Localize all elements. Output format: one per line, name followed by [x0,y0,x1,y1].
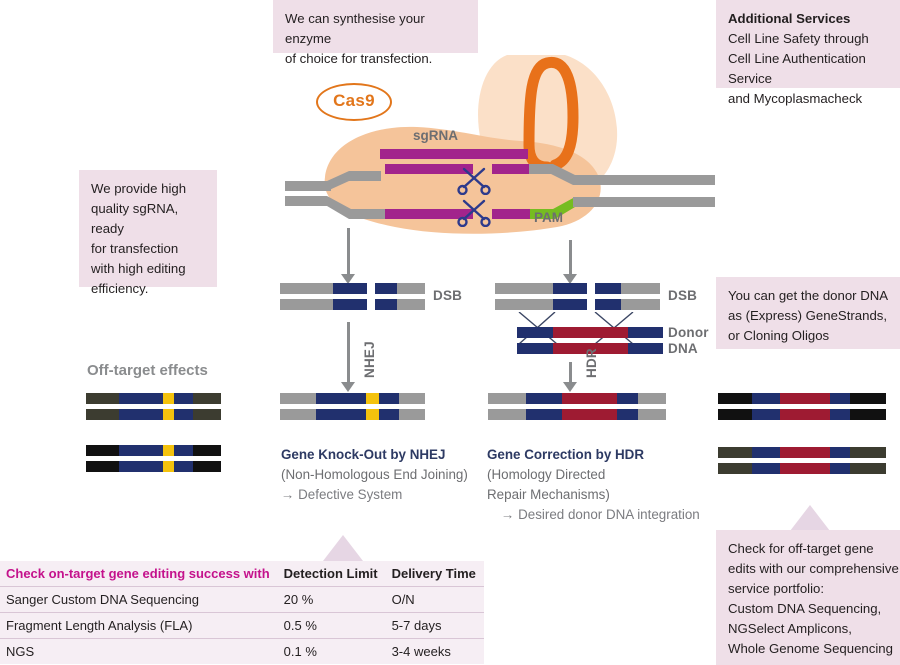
hdr-top-navy-b [617,393,638,404]
table-callout-pointer [323,535,363,561]
dsb-right-top-navy-b [595,283,621,294]
callout-donor-line-1: You can get the donor DNA [728,288,888,303]
genomic-dna-top-in [285,181,331,191]
hdr-top-navy-a [526,393,562,404]
dsb-left-bot-navy-b [375,299,397,310]
offtarget-duplex-2 [86,445,221,473]
nhej-bot-navy-a [316,409,366,420]
hdr-bot-navy-a [526,409,562,420]
sgrna-strand-mid-right [492,164,529,174]
callout-donor-dna: You can get the donor DNA as (Express) G… [716,277,900,349]
table-cell-method: Fragment Length Analysis (FLA) [0,613,278,639]
table-cell-method: NGS [0,639,278,665]
otr2-bot-red [780,463,830,474]
result-hdr-outcome: → Desired donor DNA integration [487,505,717,525]
nhej-label: NHEJ [362,341,377,378]
scissors-icon-upper [457,165,491,195]
ot2-top-black-a [86,445,119,456]
table-cell-detection-limit: 20 % [278,587,386,613]
target-strand-right [492,209,530,219]
callout-sgrna-line-2: quality sgRNA, ready [91,201,178,236]
dsb-right-bot-gray-b [621,299,660,310]
otr2-top-navy-b [830,447,850,458]
dsb-left-top-navy-a [333,283,367,294]
table-head: Check on-target gene editing success wit… [0,561,484,587]
table-row: Sanger Custom DNA Sequencing 20 % O/N [0,587,484,613]
ot2-bot-navy-a [119,461,163,472]
dsb-label-left: DSB [433,288,462,303]
donor-top-navy-b [628,327,663,338]
ot1-top-dark-b [193,393,221,404]
result-nhej-block: Gene Knock-Out by NHEJ (Non-Homologous E… [281,445,491,505]
otr2-bot-dark-a [718,463,752,474]
offtarget-right-duplex-1 [718,393,886,421]
callout-sgrna-line-4: with high editing [91,261,186,276]
dsb-duplex-left [280,283,425,311]
result-nhej-title: Gene Knock-Out by NHEJ [281,445,491,465]
arrow-shaft-to-nhej-dsb [347,228,350,276]
table-cell-delivery-time: 5-7 days [386,613,484,639]
otr1-top-black-b [850,393,886,404]
callout-additional-services-title: Additional Services [728,9,900,29]
hdr-result-duplex [488,393,666,421]
crispr-workflow-diagram: We can synthesise your enzyme of choice … [0,0,900,665]
ot2-top-navy-b [174,445,193,456]
table-cell-delivery-time: O/N [386,587,484,613]
callout-offtarget-services: Check for off-target gene edits with our… [716,530,900,665]
arrow-head-hdr [563,382,577,392]
scissors-icon-lower [457,197,491,227]
callout-sgrna-line-1: We provide high [91,181,186,196]
cas9-label: Cas9 [316,83,392,121]
nhej-bot-gray-b [399,409,425,420]
table-header-detection-limit: Detection Limit [278,561,386,587]
dsb-right-bot-navy-b [595,299,621,310]
arrow-shaft-nhej [347,322,350,384]
ot2-indel-top [163,445,174,456]
dsb-left-bot-navy-a [333,299,367,310]
callout-offtarget-line-1: Check for off-target gene [728,541,874,556]
otr2-top-dark-b [850,447,886,458]
dsb-right-bot-gray-a [495,299,553,310]
offtarget-effects-label: Off-target effects [87,362,208,379]
nhej-top-gray-b [399,393,425,404]
callout-offtarget-line-5: NGSelect Amplicons, [728,621,852,636]
arrow-shaft-to-hdr-dsb [569,240,572,276]
callout-sgrna-provision: We provide high quality sgRNA, ready for… [79,170,217,287]
genomic-dna-bottom-strand [285,196,385,219]
nhej-indel-top [366,393,379,404]
otr1-bot-black-a [718,409,752,420]
ot1-top-navy-b [174,393,193,404]
table-header-method: Check on-target gene editing success wit… [0,561,278,587]
dsb-right-bot-navy-a [553,299,587,310]
table-body: Sanger Custom DNA Sequencing 20 % O/N Fr… [0,587,484,665]
result-nhej-subtitle: (Non-Homologous End Joining) [281,467,468,482]
dsb-label-right: DSB [668,288,697,303]
nhej-top-gray-a [280,393,316,404]
result-hdr-subtitle-line1: (Homology Directed [487,467,605,482]
arrow-head-nhej [341,382,355,392]
callout-additional-services: Additional Services Cell Line Safety thr… [716,0,900,88]
ot2-bot-navy-b [174,461,193,472]
otr1-top-red [780,393,830,404]
table-cell-delivery-time: 3-4 weeks [386,639,484,665]
nhej-result-duplex [280,393,425,421]
ot2-bot-black-b [193,461,221,472]
result-hdr-title: Gene Correction by HDR [487,445,717,465]
table-cell-detection-limit: 0.1 % [278,639,386,665]
ot1-top-navy-a [119,393,163,404]
otr2-top-dark-a [718,447,752,458]
arrow-shaft-hdr [569,362,572,384]
table-header-delivery-time: Delivery Time [386,561,484,587]
genomic-dna-bottom-exit [573,197,715,207]
sgrna-label: sgRNA [413,128,458,143]
callout-offtarget-line-2: edits with our comprehensive [728,561,899,576]
callout-offtarget-line-6: Whole Genome Sequencing [728,641,893,656]
table-header-row: Check on-target gene editing success wit… [0,561,484,587]
otr2-bot-dark-b [850,463,886,474]
hdr-bot-red [562,409,617,420]
callout-synthesise-enzyme: We can synthesise your enzyme of choice … [273,0,478,53]
table-row: NGS 0.1 % 3-4 weeks [0,639,484,665]
callout-sgrna-line-3: for transfection [91,241,178,256]
dsb-right-top-navy-a [553,283,587,294]
ot1-indel-bot [163,409,174,420]
donor-dna-label-line1: Donor [668,325,709,340]
dsb-left-top-navy-b [375,283,397,294]
callout-donor-line-2: as (Express) GeneStrands, [728,308,887,323]
hdr-top-gray-b [638,393,666,404]
ot1-bot-navy-a [119,409,163,420]
callout-additional-services-line-2: Cell Line Authentication Service [728,51,866,86]
otr2-bot-navy-a [752,463,780,474]
donor-dna-label-line2: DNA [668,341,698,356]
callout-synthesise-line-1: We can synthesise your enzyme [285,11,425,46]
ot2-top-black-b [193,445,221,456]
dsb-right-top-gray-b [621,283,660,294]
otr2-top-red [780,447,830,458]
otr1-bot-red [780,409,830,420]
callout-offtarget-pointer [790,505,830,531]
ot1-top-dark-a [86,393,119,404]
result-hdr-block: Gene Correction by HDR (Homology Directe… [487,445,717,525]
donor-bot-navy-a [517,343,553,354]
ot1-bot-navy-b [174,409,193,420]
callout-sgrna-line-5: efficiency. [91,281,148,296]
otr2-bot-navy-b [830,463,850,474]
result-hdr-subtitle-line2: Repair Mechanisms) [487,487,610,502]
nhej-bot-gray-a [280,409,316,420]
ot2-top-navy-a [119,445,163,456]
ot1-bot-dark-b [193,409,221,420]
table-row: Fragment Length Analysis (FLA) 0.5 % 5-7… [0,613,484,639]
callout-offtarget-line-3: service portfolio: [728,581,824,596]
ot2-bot-black-a [86,461,119,472]
hdr-label: HDR [584,348,599,378]
offtarget-right-duplex-2 [718,447,886,475]
ot1-indel-top [163,393,174,404]
table-cell-method: Sanger Custom DNA Sequencing [0,587,278,613]
dsb-right-top-gray-a [495,283,553,294]
sgrna-strand-top [380,149,528,159]
hdr-bot-gray-b [638,409,666,420]
nhej-top-navy-a [316,393,366,404]
nhej-bot-navy-b [379,409,399,420]
result-nhej-outcome: → Defective System [281,485,491,505]
hdr-bot-gray-a [488,409,526,420]
dsb-left-top-gray-a [280,283,333,294]
table-cell-detection-limit: 0.5 % [278,613,386,639]
otr1-bot-black-b [850,409,886,420]
donor-bot-navy-b [628,343,663,354]
hdr-top-red [562,393,617,404]
ot2-indel-bot [163,461,174,472]
pam-label: PAM [534,210,563,225]
otr2-top-navy-a [752,447,780,458]
detection-methods-table: Check on-target gene editing success wit… [0,561,484,664]
dsb-left-top-gray-b [397,283,425,294]
dsb-left-bot-gray-a [280,299,333,310]
dsb-duplex-right [495,283,660,311]
otr1-top-navy-a [752,393,780,404]
nhej-top-navy-b [379,393,399,404]
offtarget-duplex-1 [86,393,221,421]
otr1-top-black-a [718,393,752,404]
donor-top-navy-a [517,327,553,338]
otr1-top-navy-b [830,393,850,404]
ot1-bot-dark-a [86,409,119,420]
hdr-top-gray-a [488,393,526,404]
otr1-bot-navy-b [830,409,850,420]
genomic-dna-top-exit [529,164,715,185]
callout-additional-services-line-3: and Mycoplasmacheck [728,91,862,106]
donor-top-red [553,327,628,338]
callout-additional-services-line-1: Cell Line Safety through [728,31,869,46]
nhej-indel-bot [366,409,379,420]
callout-offtarget-line-4: Custom DNA Sequencing, [728,601,881,616]
otr1-bot-navy-a [752,409,780,420]
dsb-left-bot-gray-b [397,299,425,310]
callout-donor-line-3: or Cloning Oligos [728,328,829,343]
hdr-bot-navy-b [617,409,638,420]
